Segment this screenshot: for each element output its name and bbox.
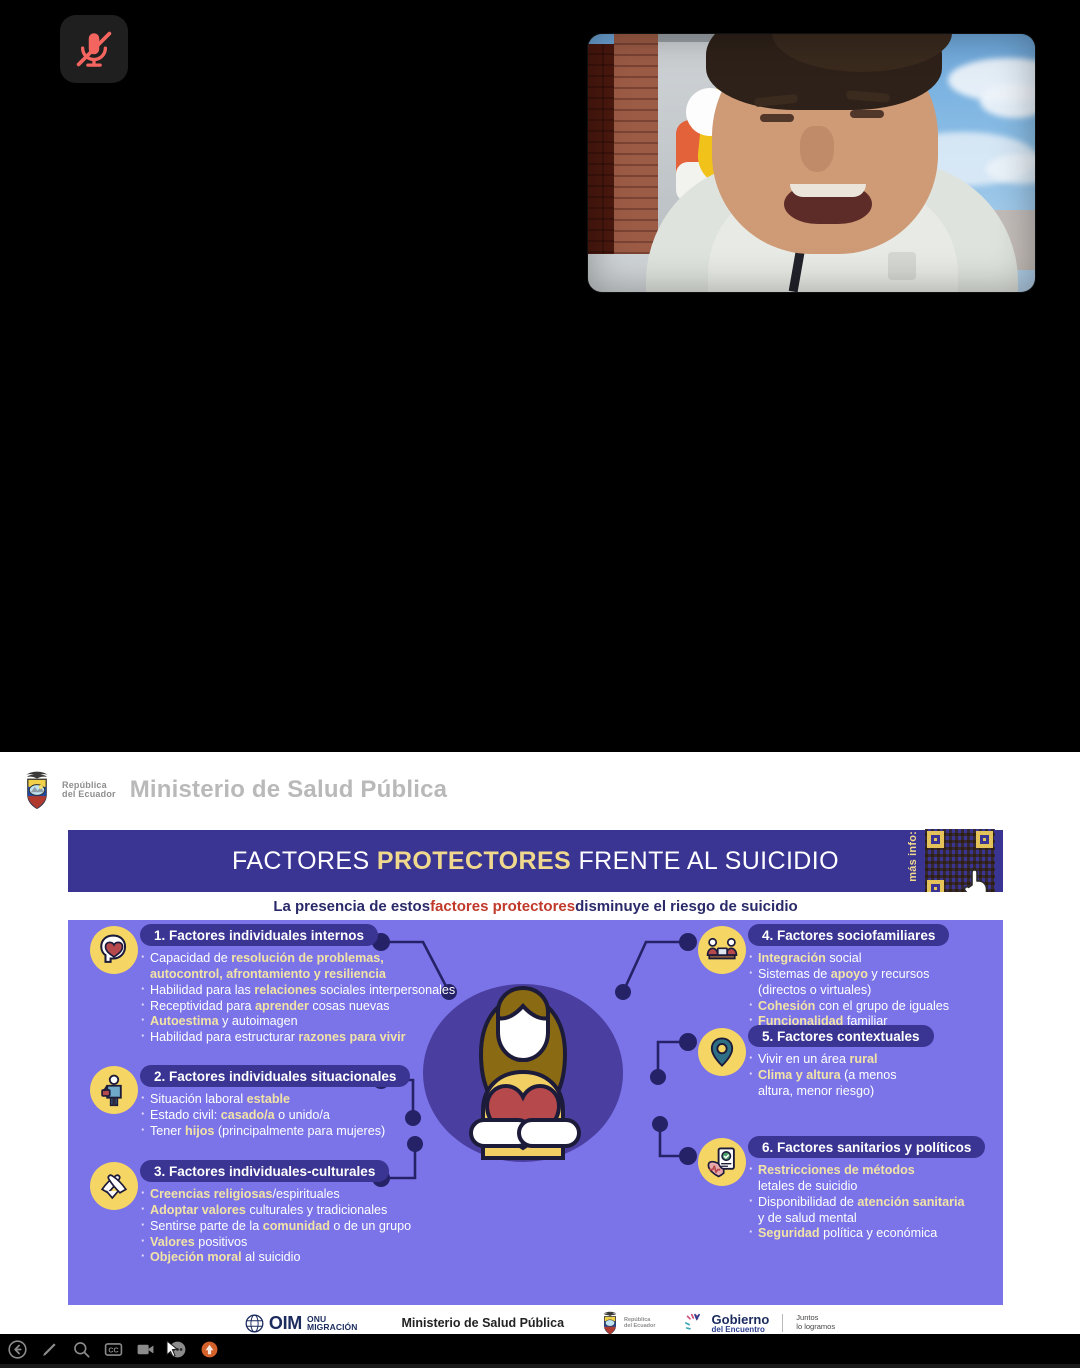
list-item: Vivir en un área rural xyxy=(748,1052,934,1068)
factor-box-6-heading: 6. Factores sanitarios y políticos xyxy=(748,1136,985,1158)
slide-title-part1: FACTORES xyxy=(232,847,377,876)
participant-video-tile[interactable] xyxy=(588,34,1035,292)
pencil-icon xyxy=(40,1340,59,1359)
map-pin-icon xyxy=(705,1035,739,1069)
toolbar-buttons: CC xyxy=(0,1334,220,1364)
list-item: Habilidad para las relaciones sociales i… xyxy=(140,983,455,999)
factor-box-4: 4. Factores sociofamiliares Integración … xyxy=(748,924,949,1030)
list-item: Sentirse parte de la comunidad o de un g… xyxy=(140,1219,411,1235)
oim-line2: MIGRACIÓN xyxy=(307,1323,357,1332)
list-item: Capacidad de resolución de problemas, xyxy=(140,951,455,967)
list-item: letales de suicidio xyxy=(748,1179,985,1195)
qr-finder-pattern xyxy=(976,831,993,848)
subtitle-pre: La presencia de estos xyxy=(273,898,430,915)
factor-box-1-list: Capacidad de resolución de problemas, au… xyxy=(140,951,455,1046)
microphone-muted-icon xyxy=(73,28,115,70)
cc-icon: CC xyxy=(104,1340,123,1359)
factor-box-4-heading: 4. Factores sociofamiliares xyxy=(748,924,949,946)
annotate-button[interactable] xyxy=(38,1338,60,1360)
gobierno-mark-icon xyxy=(684,1313,706,1333)
icon-badge-3 xyxy=(90,1162,138,1210)
factor-box-2: 2. Factores individuales situacionales S… xyxy=(140,1065,410,1140)
list-item: altura, menor riesgo) xyxy=(748,1084,934,1100)
list-item: Creencias religiosas/espirituales xyxy=(140,1187,411,1203)
document-header: República del Ecuador Ministerio de Salu… xyxy=(0,762,1080,818)
list-item: Valores positivos xyxy=(140,1235,411,1251)
icon-badge-1 xyxy=(90,926,138,974)
qr-finder-pattern xyxy=(927,831,944,848)
leave-call-icon xyxy=(200,1340,219,1359)
list-item: Estado civil: casado/a o unido/a xyxy=(140,1108,410,1124)
list-item: Integración social xyxy=(748,951,949,967)
icon-badge-6 xyxy=(698,1138,746,1186)
factor-box-3-list: Creencias religiosas/espirituales Adopta… xyxy=(140,1187,411,1266)
zoom-button[interactable] xyxy=(70,1338,92,1360)
factor-box-5-heading: 5. Factores contextuales xyxy=(748,1025,934,1047)
video-camera-icon xyxy=(136,1340,155,1359)
factor-box-2-list: Situación laboral estable Estado civil: … xyxy=(140,1092,410,1140)
ecuador-coat-of-arms-icon xyxy=(596,1309,624,1337)
list-item: Receptividad para aprender cosas nuevas xyxy=(140,999,455,1015)
gobierno-subtitle: del Encuentro xyxy=(712,1326,770,1334)
captions-button[interactable]: CC xyxy=(102,1338,124,1360)
footer-shield-caption: República del Ecuador xyxy=(624,1317,655,1329)
factor-box-3: 3. Factores individuales-culturales Cree… xyxy=(140,1160,411,1266)
factor-box-6: 6. Factores sanitarios y políticos Restr… xyxy=(748,1136,985,1242)
leave-button[interactable] xyxy=(198,1338,220,1360)
list-item: autocontrol, afrontamiento y resiliencia xyxy=(140,967,455,983)
toolbar-rule xyxy=(0,1364,1080,1368)
video-vignette xyxy=(588,34,1035,292)
list-item: Habilidad para estructurar razones para … xyxy=(140,1030,455,1046)
shared-document: República del Ecuador Ministerio de Salu… xyxy=(0,752,1080,1334)
icon-badge-5 xyxy=(698,1028,746,1076)
heart-pulse-document-icon xyxy=(705,1145,739,1179)
list-item: Autoestima y autoimagen xyxy=(140,1014,455,1030)
list-item: Sistemas de apoyo y recursos xyxy=(748,967,949,983)
mute-indicator-badge[interactable] xyxy=(60,15,128,83)
icon-badge-4 xyxy=(698,926,746,974)
list-item: Restricciones de métodos xyxy=(748,1163,985,1179)
gobierno-tagline: Juntos lo logramos xyxy=(796,1314,835,1331)
search-icon xyxy=(72,1340,91,1359)
presentation-slide: FACTORES PROTECTORES FRENTE AL SUICIDIO … xyxy=(68,830,1003,1305)
factor-box-5-list: Vivir en un área rural Clima y altura (a… xyxy=(748,1052,934,1100)
list-item: Situación laboral estable xyxy=(140,1092,410,1108)
ecuador-coat-of-arms-icon xyxy=(14,767,60,813)
slide-title-highlight: PROTECTORES xyxy=(377,847,571,876)
icon-badge-2 xyxy=(90,1066,138,1114)
slide-banner: FACTORES PROTECTORES FRENTE AL SUICIDIO … xyxy=(68,830,1003,892)
head-with-heart-icon xyxy=(97,933,131,967)
factor-box-6-list: Restricciones de métodos letales de suic… xyxy=(748,1163,985,1242)
list-item: Disponibilidad de atención sanitaria xyxy=(748,1195,985,1211)
factor-box-5: 5. Factores contextuales Vivir en un áre… xyxy=(748,1025,934,1100)
slide-title-part2: FRENTE AL SUICIDIO xyxy=(571,847,839,876)
list-item: y de salud mental xyxy=(748,1211,985,1227)
video-stage xyxy=(0,0,1080,752)
header-shield-caption: República del Ecuador xyxy=(62,781,116,799)
subtitle-post: disminuye el riesgo de suicidio xyxy=(575,898,798,915)
oim-subtext: ONU MIGRACIÓN xyxy=(307,1315,357,1332)
svg-text:CC: CC xyxy=(108,1346,118,1354)
gobierno-tagline-line2: lo logramos xyxy=(796,1323,835,1332)
list-item: Clima y altura (a menos xyxy=(748,1068,934,1084)
divider xyxy=(782,1314,783,1332)
page-title: Ministerio de Salud Pública xyxy=(130,776,447,804)
list-item: Adoptar valores culturales y tradicional… xyxy=(140,1203,411,1219)
factor-box-4-list: Integración social Sistemas de apoyo y r… xyxy=(748,951,949,1030)
document-footer: OIM ONU MIGRACIÓN Ministerio de Salud Pú… xyxy=(0,1312,1080,1334)
video-frame xyxy=(588,34,1035,292)
list-item: (directos o virtuales) xyxy=(748,983,949,999)
oim-logo: OIM ONU MIGRACIÓN xyxy=(245,1313,358,1334)
oim-abbr: OIM xyxy=(269,1313,302,1334)
gobierno-logo: Gobierno del Encuentro Juntos lo logramo… xyxy=(684,1313,836,1334)
camera-button[interactable] xyxy=(134,1338,156,1360)
shield-caption-line2: del Ecuador xyxy=(62,790,116,799)
list-item: Objeción moral al suicidio xyxy=(140,1250,411,1266)
slide-title: FACTORES PROTECTORES FRENTE AL SUICIDIO xyxy=(68,830,1003,892)
worker-with-briefcase-icon xyxy=(97,1073,131,1107)
app-root: República del Ecuador Ministerio de Salu… xyxy=(0,0,1080,1368)
factor-box-2-heading: 2. Factores individuales situacionales xyxy=(140,1065,410,1087)
mouse-cursor xyxy=(166,1340,179,1358)
factor-box-3-heading: 3. Factores individuales-culturales xyxy=(140,1160,389,1182)
factor-box-1-heading: 1. Factores individuales internos xyxy=(140,924,378,946)
qr-block[interactable]: más info: xyxy=(909,827,997,901)
globe-icon xyxy=(245,1314,264,1333)
list-item: Cohesión con el grupo de iguales xyxy=(748,999,949,1015)
meeting-toolbar: CC xyxy=(0,1334,1080,1368)
qr-label: más info: xyxy=(907,831,919,882)
slide-subtitle: La presencia de estos factores protector… xyxy=(68,892,1003,920)
list-item: Tener hijos (principalmente para mujeres… xyxy=(140,1124,410,1140)
back-button[interactable] xyxy=(6,1338,28,1360)
footer-ministry-label: Ministerio de Salud Pública xyxy=(402,1316,565,1330)
factor-box-1: 1. Factores individuales internos Capaci… xyxy=(140,924,455,1046)
family-group-icon xyxy=(705,933,739,967)
praying-hands-icon xyxy=(97,1169,131,1203)
list-item: Seguridad política y económica xyxy=(748,1226,985,1242)
slide-body: 1. Factores individuales internos Capaci… xyxy=(68,920,1003,1305)
subtitle-highlight: factores protectores xyxy=(430,898,575,915)
gobierno-name: Gobierno del Encuentro xyxy=(712,1313,770,1334)
back-arrow-icon xyxy=(8,1340,27,1359)
footer-shield-line2: del Ecuador xyxy=(624,1323,655,1329)
